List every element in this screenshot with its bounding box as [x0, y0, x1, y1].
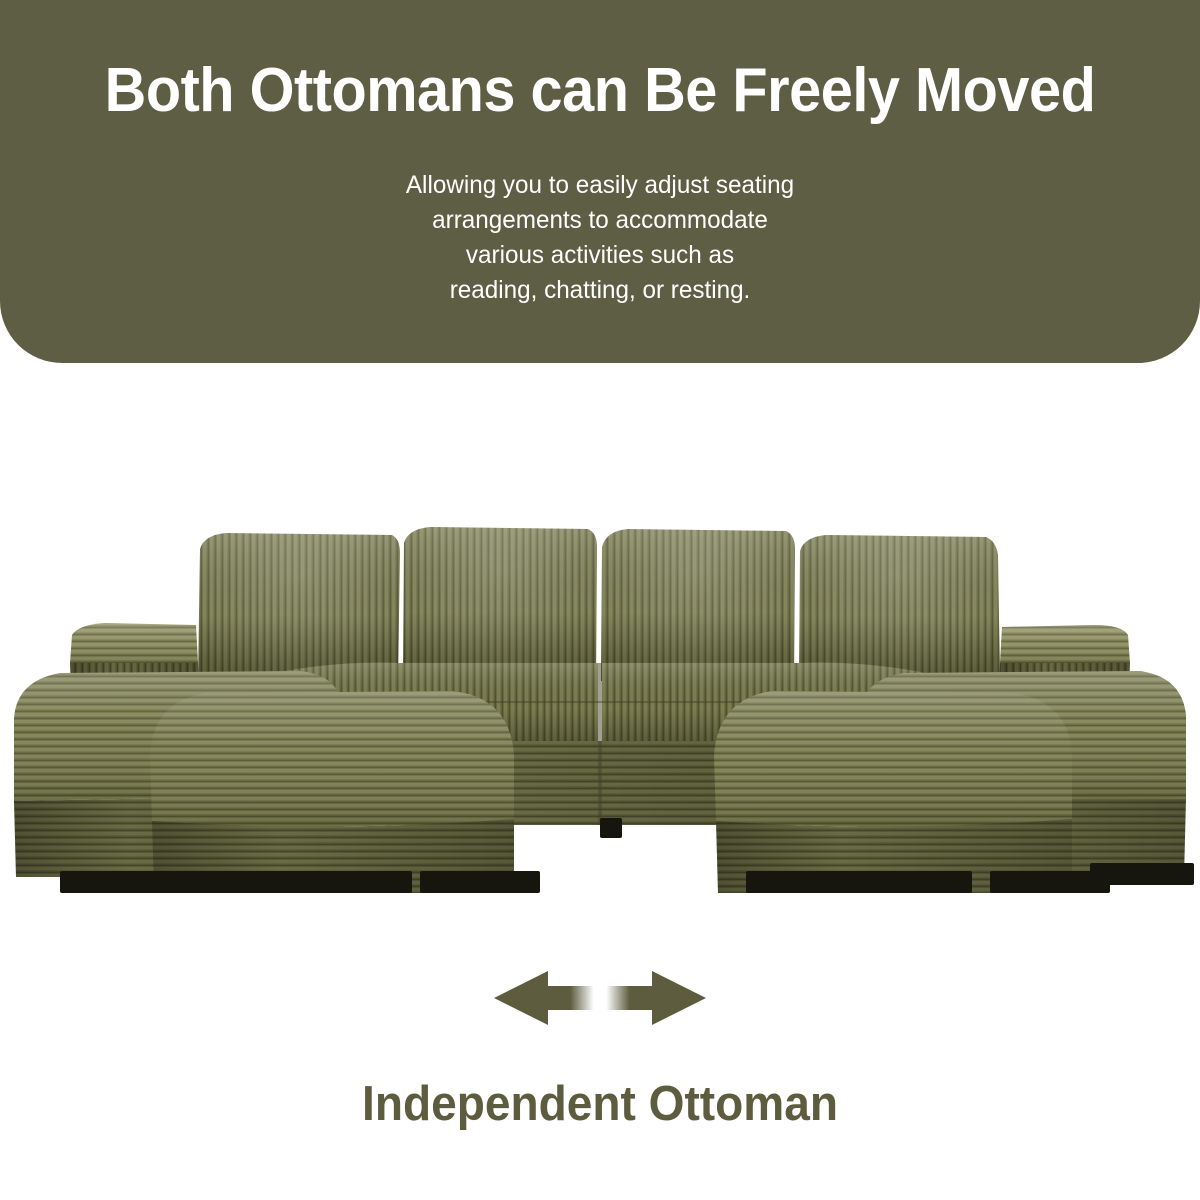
- callout-caption: Independent Ottoman: [36, 1076, 1164, 1132]
- backrest-cushion-4: [799, 535, 1000, 681]
- subtitle-line-3: various activities such as: [18, 238, 1182, 273]
- subtitle-line-4: reading, chatting, or resting.: [18, 273, 1182, 308]
- subtitle-line-1: Allowing you to easily adjust seating: [18, 168, 1182, 203]
- header-banner: Both Ottomans can Be Freely Moved Allowi…: [0, 0, 1200, 363]
- backrest-cushion-3: [601, 529, 795, 681]
- sectional-sofa-illustration: [0, 363, 1200, 963]
- page-title: Both Ottomans can Be Freely Moved: [42, 58, 1158, 123]
- subtitle-line-2: arrangements to accommodate: [18, 203, 1182, 238]
- product-photo: [0, 363, 1200, 963]
- banner-subtitle: Allowing you to easily adjust seating ar…: [18, 168, 1182, 308]
- left-ottoman-front: [150, 691, 514, 893]
- backrest-group: [198, 527, 1000, 681]
- callout-arrow-wrap: [0, 965, 1200, 1050]
- double-headed-horizontal-arrow-icon: [0, 965, 1200, 1050]
- right-ottoman-front: [714, 691, 1072, 893]
- backrest-cushion-1: [198, 533, 400, 681]
- backrest-cushion-2: [403, 527, 597, 681]
